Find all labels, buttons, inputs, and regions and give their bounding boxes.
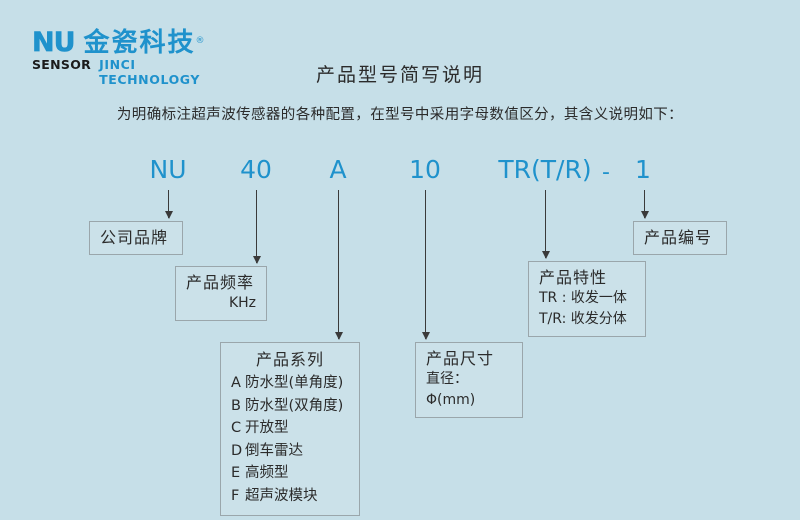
logo-brand-chinese: 金瓷科技®: [84, 30, 196, 56]
arrow-size: [425, 190, 426, 339]
code-token-separator: -: [602, 159, 610, 187]
box-frequency-unit: KHz: [186, 293, 256, 314]
page-subtitle: 为明确标注超声波传感器的各种配置，在型号中采用字母数值区分，其含义说明如下：: [0, 103, 800, 124]
arrow-series: [338, 190, 339, 339]
arrow-number: [644, 190, 645, 218]
code-token-number: 1: [635, 156, 651, 184]
box-feature: 产品特性 TR : 收发一体 T/R: 收发分体: [528, 261, 646, 337]
code-token-size: 10: [409, 156, 441, 184]
logo-primary-row: NU 金瓷科技®: [32, 30, 232, 56]
box-series-title: 产品系列: [231, 349, 349, 370]
arrow-frequency: [256, 190, 257, 263]
registered-trademark-icon: ®: [196, 28, 207, 54]
series-key-d: D: [231, 440, 245, 463]
series-item-c: C开放型: [231, 417, 349, 440]
series-label-c: 开放型: [245, 420, 289, 436]
series-label-f: 超声波模块: [245, 488, 318, 504]
series-key-b: B: [231, 395, 245, 418]
series-label-a: 防水型(单角度): [245, 375, 343, 391]
box-number: 产品编号: [633, 221, 727, 255]
series-item-a: A防水型(单角度): [231, 372, 349, 395]
series-key-c: C: [231, 417, 245, 440]
code-token-frequency: 40: [240, 156, 272, 184]
page-title: 产品型号简写说明: [0, 60, 800, 87]
diagram-page: NU 金瓷科技® SENSOR JINCI TECHNOLOGY 产品型号简写说…: [0, 0, 800, 520]
series-label-e: 高频型: [245, 465, 289, 481]
logo-brand-chinese-text: 金瓷科技: [84, 28, 196, 58]
series-key-a: A: [231, 372, 245, 395]
box-size: 产品尺寸 直径：Φ(mm): [415, 342, 523, 418]
box-frequency-title: 产品频率: [186, 272, 256, 293]
box-frequency: 产品频率 KHz: [175, 266, 267, 321]
code-token-series: A: [329, 156, 346, 184]
box-feature-tr: TR : 收发一体: [539, 288, 635, 309]
series-key-f: F: [231, 485, 245, 508]
box-feature-t-r: T/R: 收发分体: [539, 309, 635, 330]
series-item-e: E高频型: [231, 462, 349, 485]
box-number-title: 产品编号: [644, 227, 716, 248]
series-item-d: D倒车雷达: [231, 440, 349, 463]
series-label-b: 防水型(双角度): [245, 398, 343, 414]
arrow-brand: [168, 190, 169, 218]
box-feature-title: 产品特性: [539, 267, 635, 288]
code-token-feature: TR(T/R): [498, 156, 591, 184]
box-series: 产品系列 A防水型(单角度) B防水型(双角度) C开放型 D倒车雷达 E高频型…: [220, 342, 360, 516]
box-size-detail: 直径：Φ(mm): [426, 369, 512, 411]
series-key-e: E: [231, 462, 245, 485]
series-item-b: B防水型(双角度): [231, 395, 349, 418]
code-token-brand: NU: [150, 156, 187, 184]
box-brand: 公司品牌: [89, 221, 183, 255]
box-brand-title: 公司品牌: [100, 227, 172, 248]
series-item-f: F超声波模块: [231, 485, 349, 508]
box-size-title: 产品尺寸: [426, 348, 512, 369]
series-label-d: 倒车雷达: [245, 443, 303, 459]
arrow-feature: [545, 190, 546, 258]
logo-nu-mark: NU: [32, 30, 75, 56]
